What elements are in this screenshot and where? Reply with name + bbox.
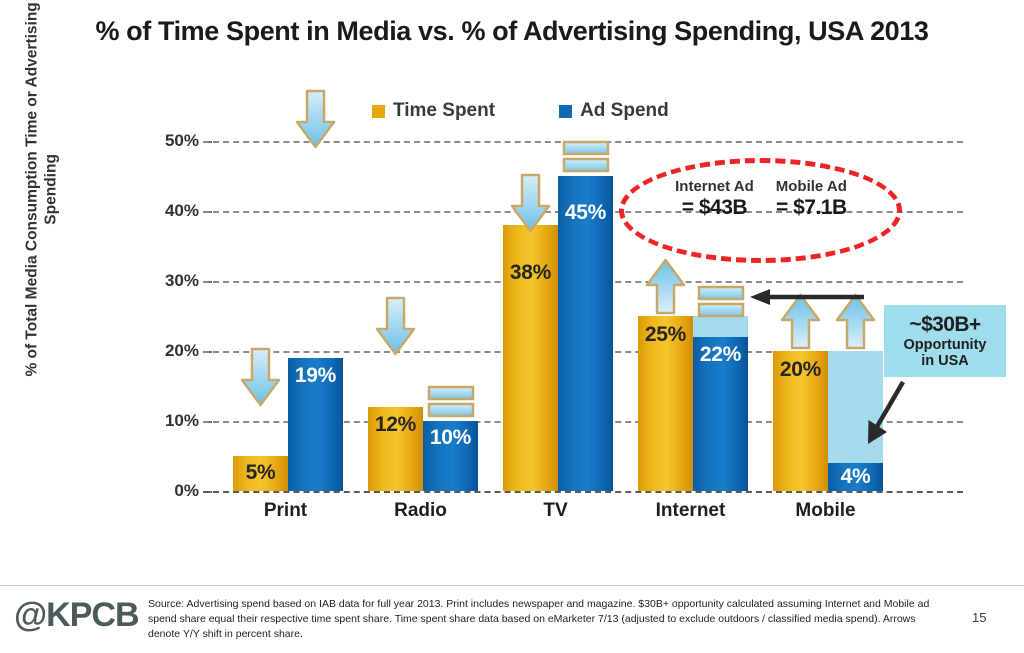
trend-down-arrow-tv-time-spent bbox=[509, 173, 552, 235]
callout-internet-ad: Internet Ad = $43B bbox=[675, 178, 754, 220]
bar-tv-time-spent[interactable]: 38% bbox=[503, 225, 558, 491]
trend-down-arrow-print-ad-spend bbox=[294, 89, 337, 151]
bar-label-internet-ad-spend: 22% bbox=[693, 343, 748, 367]
pointer-arrow-left bbox=[748, 286, 866, 313]
page-number: 15 bbox=[972, 610, 986, 625]
gridline-0 bbox=[203, 491, 963, 493]
pointer-arrow-diagonal bbox=[855, 378, 913, 455]
trend-up-arrow-internet-time-spent bbox=[644, 258, 687, 316]
opportunity-line3: in USA bbox=[921, 353, 969, 369]
y-tick-30: 30% bbox=[141, 271, 199, 291]
x-axis-labels: Print Radio TV Internet Mobile bbox=[203, 500, 963, 530]
bar-label-radio-time-spent: 12% bbox=[368, 413, 423, 437]
bar-internet-ad-spend[interactable]: 22% bbox=[693, 337, 748, 491]
page-title: % of Time Spent in Media vs. % of Advert… bbox=[0, 16, 1024, 47]
opportunity-amount: ~$30B+ bbox=[909, 313, 980, 337]
kpcb-logo: @KPCB bbox=[14, 596, 139, 635]
bar-print-ad-spend[interactable]: 19% bbox=[288, 358, 343, 491]
x-label-radio: Radio bbox=[358, 500, 483, 522]
trend-equal-icon-radio-ad-spend bbox=[427, 385, 475, 419]
trend-down-arrow-print-time-spent bbox=[239, 347, 282, 409]
x-label-tv: TV bbox=[493, 500, 618, 522]
bar-label-mobile-time-spent: 20% bbox=[773, 358, 828, 382]
y-tick-10: 10% bbox=[141, 411, 199, 431]
y-tick-20: 20% bbox=[141, 341, 199, 361]
bar-label-tv-time-spent: 38% bbox=[503, 261, 558, 285]
opportunity-line2: Opportunity bbox=[904, 337, 987, 353]
chart-legend: Time Spent Ad Spend bbox=[372, 100, 669, 122]
footer-divider bbox=[0, 585, 1024, 586]
callout-mobile-ad-value: = $7.1B bbox=[776, 196, 847, 221]
y-tick-40: 40% bbox=[141, 201, 199, 221]
bar-label-print-time-spent: 5% bbox=[233, 461, 288, 485]
bar-label-print-ad-spend: 19% bbox=[288, 364, 343, 388]
bar-label-radio-ad-spend: 10% bbox=[423, 426, 478, 450]
callout-internet-ad-label: Internet Ad bbox=[675, 178, 754, 196]
legend-swatch-time-spent bbox=[372, 105, 385, 118]
bar-mobile-time-spent[interactable]: 20% bbox=[773, 351, 828, 491]
slide-canvas: % of Time Spent in Media vs. % of Advert… bbox=[0, 0, 1024, 653]
callout-internet-ad-value: = $43B bbox=[675, 196, 754, 221]
bar-tv-ad-spend[interactable]: 45% bbox=[558, 176, 613, 491]
y-tick-50: 50% bbox=[141, 131, 199, 151]
bar-mobile-ad-spend[interactable]: 4% bbox=[828, 463, 883, 491]
trend-down-arrow-radio-time-spent bbox=[374, 296, 417, 358]
bar-group-radio: 12% 10% bbox=[358, 141, 483, 491]
x-label-mobile: Mobile bbox=[763, 500, 888, 522]
legend-item-time-spent: Time Spent bbox=[372, 100, 495, 122]
x-label-print: Print bbox=[223, 500, 348, 522]
source-note: Source: Advertising spend based on IAB d… bbox=[148, 597, 948, 642]
bar-radio-time-spent[interactable]: 12% bbox=[368, 407, 423, 491]
bar-label-mobile-ad-spend: 4% bbox=[828, 465, 883, 489]
trend-equal-icon-internet-ad-spend bbox=[697, 285, 745, 319]
legend-swatch-ad-spend bbox=[559, 105, 572, 118]
callout-ellipse-text: Internet Ad = $43B Mobile Ad = $7.1B bbox=[628, 178, 894, 220]
bar-radio-ad-spend[interactable]: 10% bbox=[423, 421, 478, 491]
legend-label-time-spent: Time Spent bbox=[393, 100, 495, 122]
bar-group-tv: 38% 45% bbox=[493, 141, 618, 491]
y-axis-title: % of Total Media Consumption Time or Adv… bbox=[23, 0, 62, 399]
y-axis-ticks: 50% 40% 30% 20% 10% 0% bbox=[141, 141, 199, 491]
bar-print-time-spent[interactable]: 5% bbox=[233, 456, 288, 491]
callout-mobile-ad-label: Mobile Ad bbox=[776, 178, 847, 196]
callout-mobile-ad: Mobile Ad = $7.1B bbox=[776, 178, 847, 220]
opportunity-callout-box: ~$30B+ Opportunity in USA bbox=[884, 305, 1006, 377]
y-tick-0: 0% bbox=[141, 481, 199, 501]
legend-item-ad-spend: Ad Spend bbox=[559, 100, 669, 122]
x-label-internet: Internet bbox=[628, 500, 753, 522]
bar-group-print: 5% 19% bbox=[223, 141, 348, 491]
bar-internet-time-spent[interactable]: 25% bbox=[638, 316, 693, 491]
bar-label-internet-time-spent: 25% bbox=[638, 323, 693, 347]
bar-label-tv-ad-spend: 45% bbox=[558, 201, 613, 225]
legend-label-ad-spend: Ad Spend bbox=[580, 100, 669, 122]
trend-equal-icon-tv-ad-spend bbox=[562, 140, 610, 174]
